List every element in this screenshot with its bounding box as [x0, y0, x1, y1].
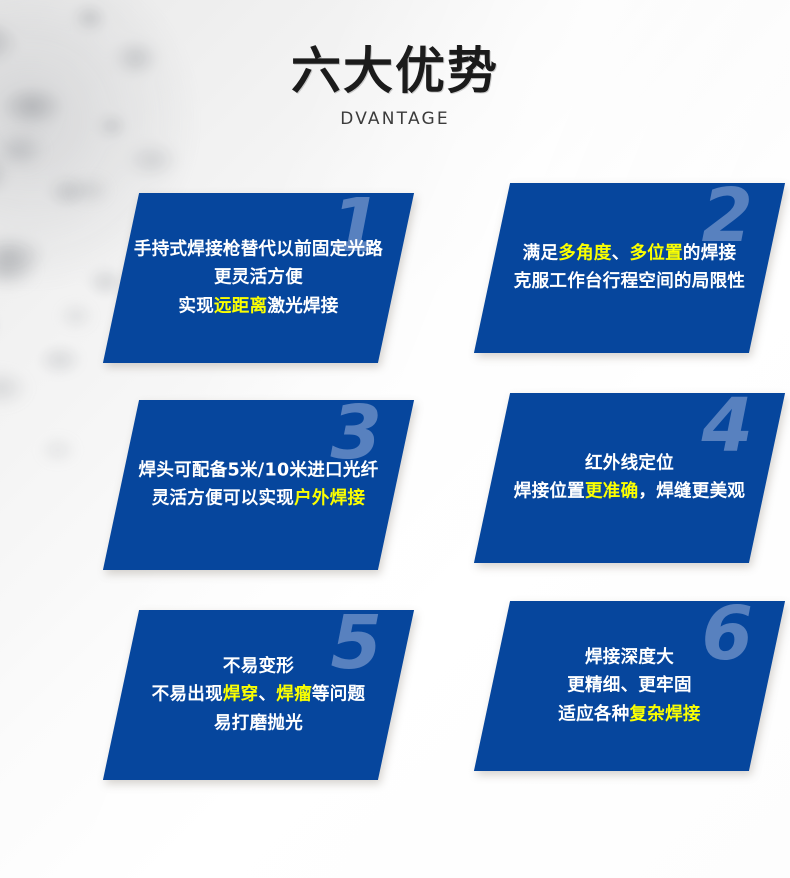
card-text-block: 焊头可配备5米/10米进口光纤灵活方便可以实现户外焊接: [121, 457, 396, 514]
advantage-card-4: 4 红外线定位焊接位置更准确，焊缝更美观: [474, 393, 785, 563]
text-segment: 满足: [523, 244, 559, 264]
text-segment: 焊头可配备5米/10米进口光纤: [139, 461, 379, 481]
text-segment: 激光焊接: [267, 296, 338, 316]
text-segment: 适应各种: [558, 704, 629, 724]
highlighted-keyword: 多位置: [630, 244, 683, 264]
text-segment: 、: [258, 685, 276, 705]
page-root: 六大优势 DVANTAGE 1 手持式焊接枪替代以前固定光路更灵活方便实现远距离…: [0, 0, 790, 878]
highlighted-keyword: 远距离: [214, 296, 267, 316]
card-text-line: 灵活方便可以实现户外焊接: [127, 485, 390, 513]
highlighted-keyword: 焊穿: [223, 685, 259, 705]
card-text-line: 焊接深度大: [498, 643, 761, 671]
text-segment: 易打磨抛光: [214, 713, 303, 733]
card-text-line: 实现远距离激光焊接: [127, 292, 390, 320]
advantage-card-grid: 1 手持式焊接枪替代以前固定光路更灵活方便实现远距离激光焊接 2 满足多角度、多…: [0, 0, 790, 878]
advantage-card-5: 5 不易变形不易出现焊穿、焊瘤等问题易打磨抛光: [103, 610, 414, 780]
card-text-line: 更精细、更牢固: [498, 672, 761, 700]
card-text-block: 满足多角度、多位置的焊接克服工作台行程空间的局限性: [492, 240, 767, 297]
advantage-card-1: 1 手持式焊接枪替代以前固定光路更灵活方便实现远距离激光焊接: [103, 193, 414, 363]
card-text-line: 满足多角度、多位置的焊接: [498, 240, 761, 268]
card-text-block: 不易变形不易出现焊穿、焊瘤等问题易打磨抛光: [121, 652, 396, 737]
card-text-block: 红外线定位焊接位置更准确，焊缝更美观: [492, 450, 767, 507]
card-text-line: 克服工作台行程空间的局限性: [498, 268, 761, 296]
card-text-block: 手持式焊接枪替代以前固定光路更灵活方便实现远距离激光焊接: [121, 235, 396, 320]
text-segment: 焊接位置: [514, 482, 585, 502]
text-segment: 红外线定位: [585, 454, 674, 474]
highlighted-keyword: 更准确: [585, 482, 638, 502]
highlighted-keyword: 复杂焊接: [630, 704, 701, 724]
card-text-line: 红外线定位: [498, 450, 761, 478]
text-segment: 克服工作台行程空间的局限性: [514, 272, 745, 292]
advantage-card-6: 6 焊接深度大更精细、更牢固适应各种复杂焊接: [474, 601, 785, 771]
text-segment: ，焊缝更美观: [638, 482, 745, 502]
text-segment: 焊接深度大: [585, 647, 674, 667]
text-segment: 不易变形: [223, 656, 294, 676]
card-text-block: 焊接深度大更精细、更牢固适应各种复杂焊接: [492, 643, 767, 728]
text-segment: 手持式焊接枪替代以前固定光路: [134, 239, 383, 259]
card-text-line: 易打磨抛光: [127, 709, 390, 737]
highlighted-keyword: 多角度: [558, 244, 611, 264]
highlighted-keyword: 焊瘤: [276, 685, 312, 705]
text-segment: 不易出现: [152, 685, 223, 705]
card-text-line: 更灵活方便: [127, 264, 390, 292]
advantage-card-3: 3 焊头可配备5米/10米进口光纤灵活方便可以实现户外焊接: [103, 400, 414, 570]
card-text-line: 适应各种复杂焊接: [498, 700, 761, 728]
text-segment: 等问题: [312, 685, 365, 705]
text-segment: 灵活方便可以实现: [152, 489, 294, 509]
card-text-line: 焊接位置更准确，焊缝更美观: [498, 478, 761, 506]
text-segment: 更精细、更牢固: [567, 676, 692, 696]
text-segment: 、: [612, 244, 630, 264]
card-text-line: 焊头可配备5米/10米进口光纤: [127, 457, 390, 485]
text-segment: 实现: [178, 296, 214, 316]
text-segment: 更灵活方便: [214, 268, 303, 288]
card-text-line: 手持式焊接枪替代以前固定光路: [127, 235, 390, 263]
card-text-line: 不易变形: [127, 652, 390, 680]
text-segment: 的焊接: [683, 244, 736, 264]
highlighted-keyword: 户外焊接: [294, 489, 365, 509]
advantage-card-2: 2 满足多角度、多位置的焊接克服工作台行程空间的局限性: [474, 183, 785, 353]
card-text-line: 不易出现焊穿、焊瘤等问题: [127, 681, 390, 709]
